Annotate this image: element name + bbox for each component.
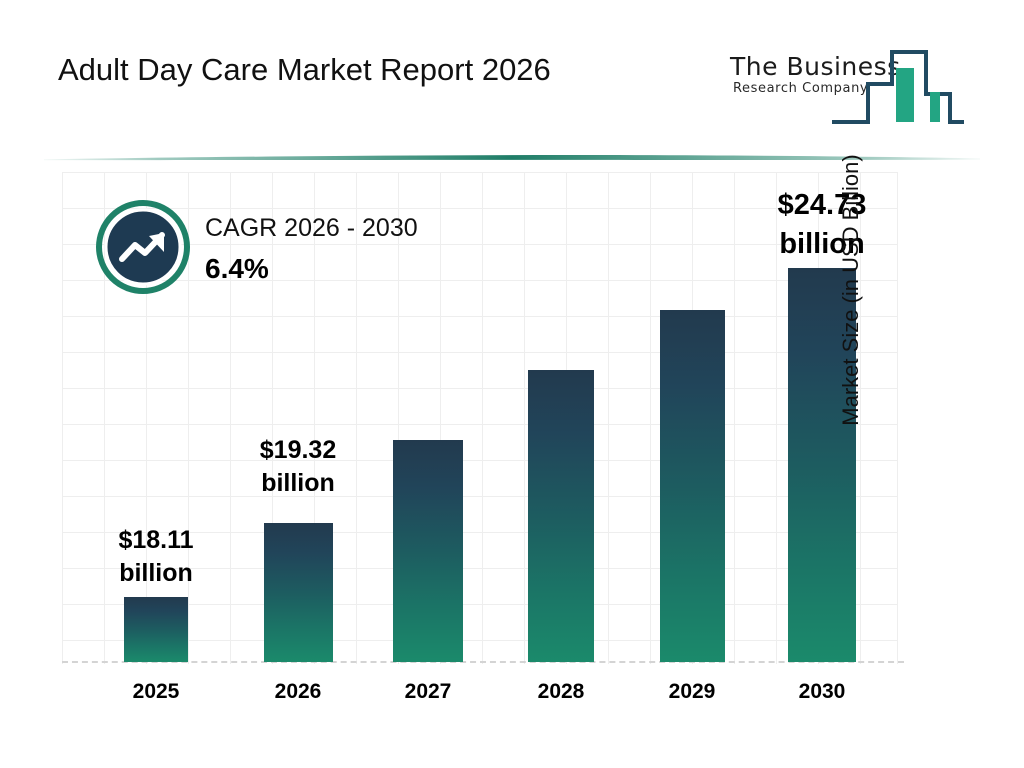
bar-label-2030: $24.73 billion bbox=[742, 186, 902, 263]
bar-2027[interactable] bbox=[393, 440, 463, 662]
bar-label-2026-unit: billion bbox=[218, 467, 378, 500]
bar-2026[interactable] bbox=[264, 523, 333, 662]
chart-baseline bbox=[62, 661, 904, 663]
x-axis-label-2030: 2030 bbox=[762, 680, 882, 704]
chart-page: Adult Day Care Market Report 2026 The Bu… bbox=[0, 0, 1024, 768]
bar-2025[interactable] bbox=[124, 597, 188, 662]
bar-label-2026-amount: $19.32 bbox=[218, 434, 378, 467]
bar-2029[interactable] bbox=[660, 310, 725, 662]
bar-label-2030-amount: $24.73 bbox=[742, 186, 902, 225]
bar-label-2025-amount: $18.11 bbox=[76, 524, 236, 557]
cagr-value: 6.4% bbox=[205, 253, 418, 285]
page-title: Adult Day Care Market Report 2026 bbox=[58, 52, 551, 88]
cagr-text-block: CAGR 2026 - 2030 6.4% bbox=[205, 214, 418, 285]
y-axis-title: Market Size (in USD Billion) bbox=[838, 100, 864, 480]
x-axis-label-2027: 2027 bbox=[368, 680, 488, 704]
bar-label-2026: $19.32 billion bbox=[218, 434, 378, 501]
bar-label-2025-unit: billion bbox=[76, 557, 236, 590]
bar-2028[interactable] bbox=[528, 370, 594, 662]
cagr-badge-icon bbox=[96, 200, 190, 294]
x-axis-label-2029: 2029 bbox=[632, 680, 752, 704]
cagr-label: CAGR 2026 - 2030 bbox=[205, 214, 418, 243]
x-axis-label-2028: 2028 bbox=[501, 680, 621, 704]
x-axis-label-2026: 2026 bbox=[238, 680, 358, 704]
x-axis-label-2025: 2025 bbox=[96, 680, 216, 704]
bar-label-2025: $18.11 billion bbox=[76, 524, 236, 591]
bar-label-2030-unit: billion bbox=[742, 225, 902, 264]
